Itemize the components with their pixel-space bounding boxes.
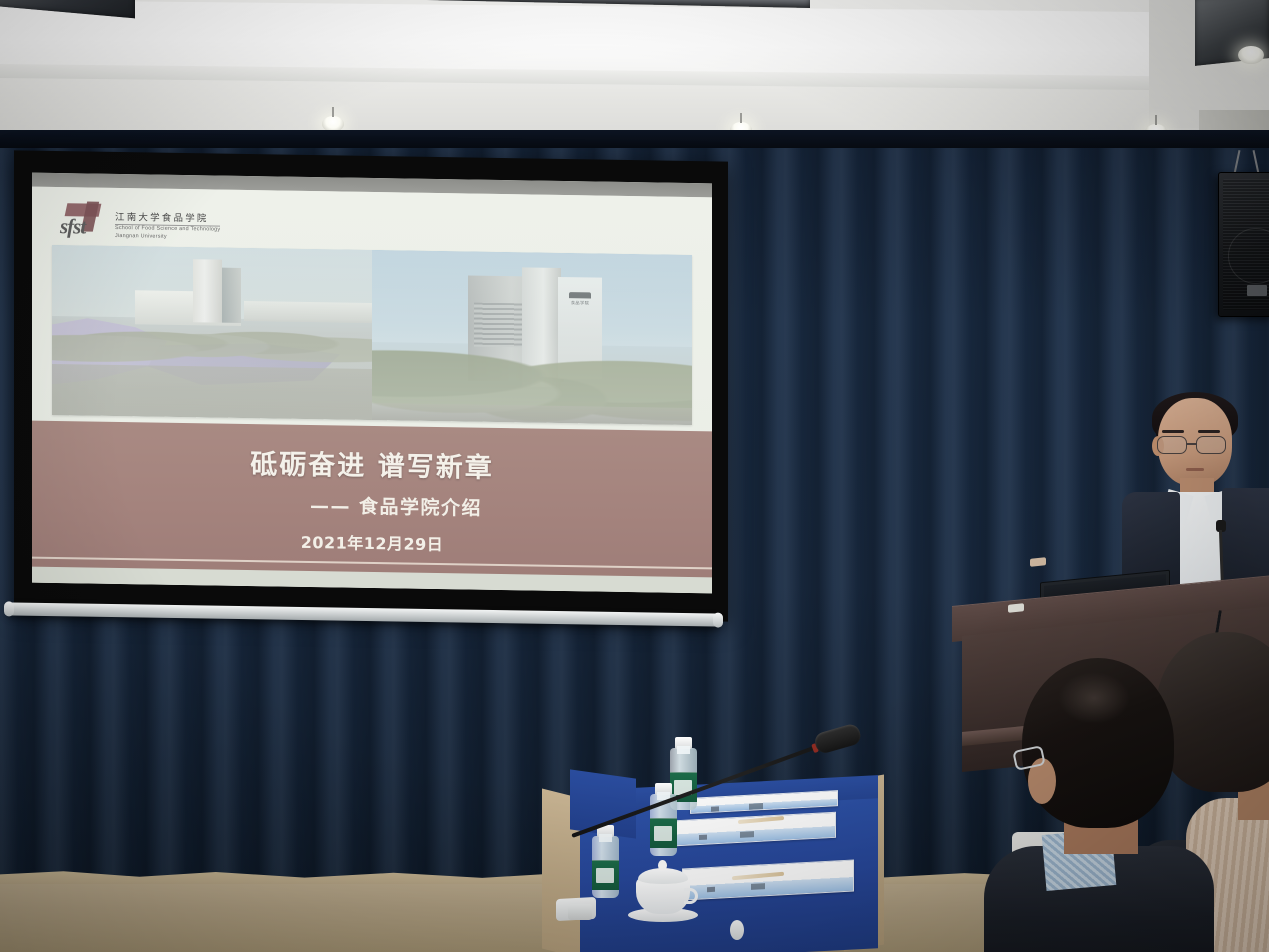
- logo-wordmark: sfst: [60, 214, 85, 239]
- audience-front-left: [1000, 648, 1205, 952]
- wall-speaker-icon: [1218, 172, 1269, 317]
- food-science-building-photo: 食品学院: [372, 250, 692, 425]
- slide-header: sfst 江南大学食品学院 School of Food Science and…: [32, 187, 712, 256]
- podium-control-button[interactable]: [1030, 557, 1046, 567]
- presentation-slide: sfst 江南大学食品学院 School of Food Science and…: [32, 187, 712, 594]
- podium-control-button[interactable]: [1008, 603, 1024, 613]
- sfst-logo-icon: sfst: [60, 201, 108, 242]
- campus-lake-photo: [52, 245, 372, 420]
- microphone-base: [568, 904, 592, 920]
- logo-english-line2: Jiangnan University: [115, 233, 220, 242]
- ceiling: [0, 0, 1269, 150]
- slide-title: 砥砺奋进 谱写新章: [250, 442, 493, 485]
- table-object: [730, 920, 744, 940]
- logo-chinese-name: 江南大学食品学院: [115, 209, 220, 227]
- lidded-teacup: [632, 866, 694, 918]
- projection-screen-frame: sfst 江南大学食品学院 School of Food Science and…: [14, 150, 728, 621]
- water-bottle: [592, 836, 619, 898]
- school-logo: sfst 江南大学食品学院 School of Food Science and…: [60, 201, 220, 244]
- screen-bar-cap-right: [713, 612, 723, 627]
- curtain-rail: [0, 130, 1269, 148]
- conference-room-scene: sfst 江南大学食品学院 School of Food Science and…: [0, 0, 1269, 952]
- slide-photo-strip: 食品学院: [52, 245, 692, 425]
- screen-bar-cap-left: [4, 601, 14, 616]
- logo-text-block: 江南大学食品学院 School of Food Science and Tech…: [115, 209, 220, 243]
- slide-title-band: 砥砺奋进 谱写新章 —— 食品学院介绍 2021年12月29日: [32, 421, 712, 584]
- projection-screen-surface: sfst 江南大学食品学院 School of Food Science and…: [32, 173, 712, 594]
- conference-table: [570, 782, 870, 952]
- presenter-glasses-icon: [1156, 436, 1236, 454]
- speaker-badge: [1247, 285, 1267, 296]
- slide-date: 2021年12月29日: [301, 529, 444, 555]
- slide-subtitle: —— 食品学院介绍: [262, 490, 482, 520]
- ceiling-spotlight-icon: [1238, 46, 1264, 64]
